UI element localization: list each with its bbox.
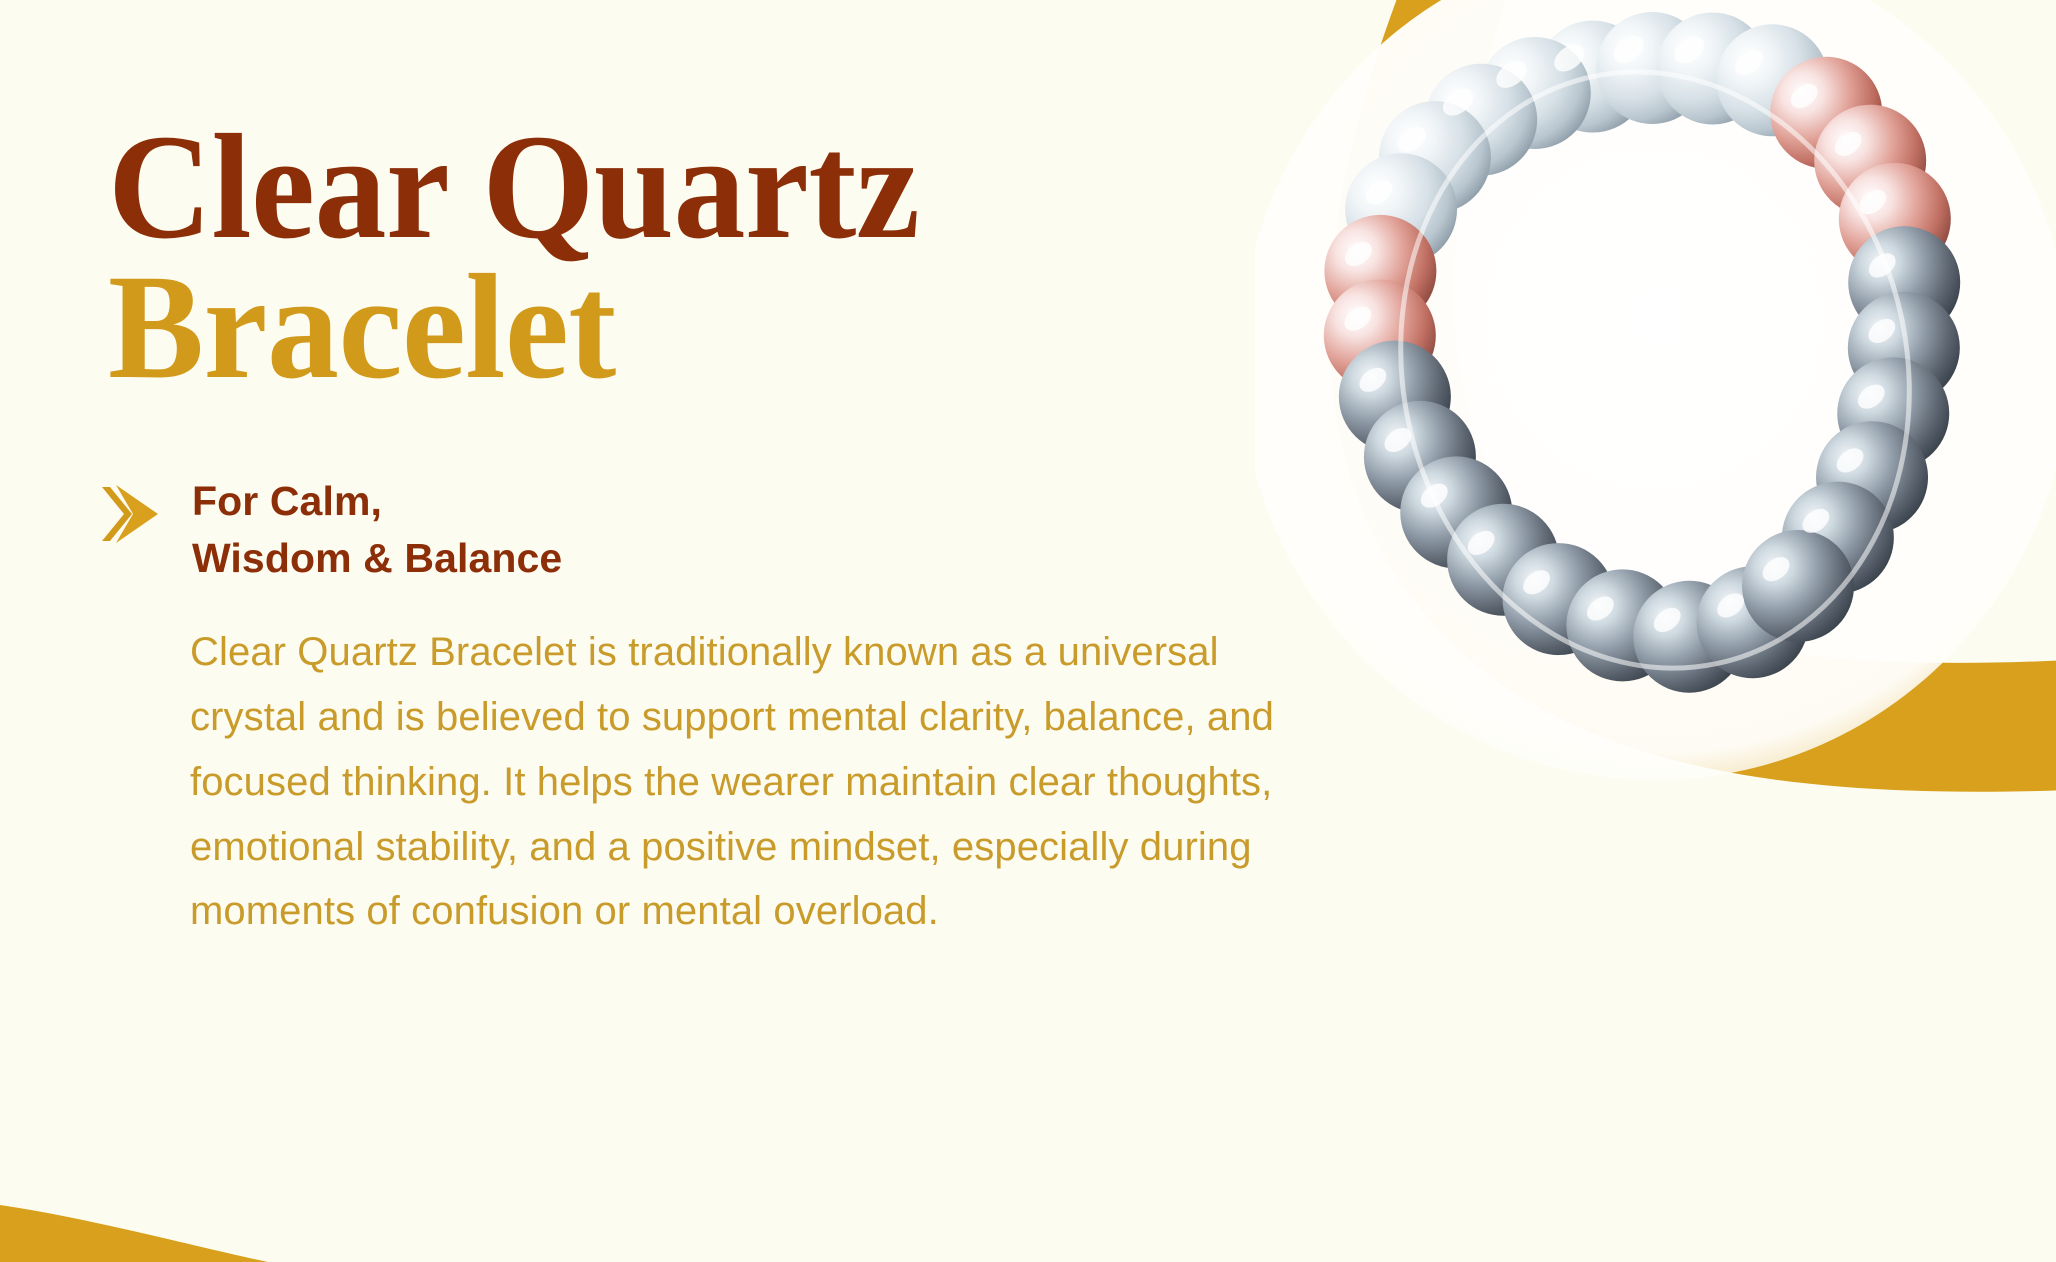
tagline: For Calm, Wisdom & Balance <box>108 473 1228 586</box>
product-image-clear-quartz-bracelet <box>1255 0 2056 800</box>
title-line-accent: Bracelet <box>108 258 1183 398</box>
gold-corner-wedge <box>0 1205 268 1262</box>
slide-canvas: Clear Quartz Bracelet For Calm, Wisdom &… <box>0 0 2056 1262</box>
tagline-line-1: For Calm, <box>192 473 562 530</box>
double-chevron-right-icon <box>100 479 166 549</box>
text-column: Clear Quartz Bracelet For Calm, Wisdom &… <box>108 118 1228 984</box>
body-paragraph: Clear Quartz Bracelet is traditionally k… <box>190 620 1325 944</box>
tagline-line-2: Wisdom & Balance <box>192 530 562 587</box>
tagline-text: For Calm, Wisdom & Balance <box>192 473 562 586</box>
title-line-primary: Clear Quartz <box>108 118 1183 258</box>
page-title: Clear Quartz Bracelet <box>108 118 1228 397</box>
